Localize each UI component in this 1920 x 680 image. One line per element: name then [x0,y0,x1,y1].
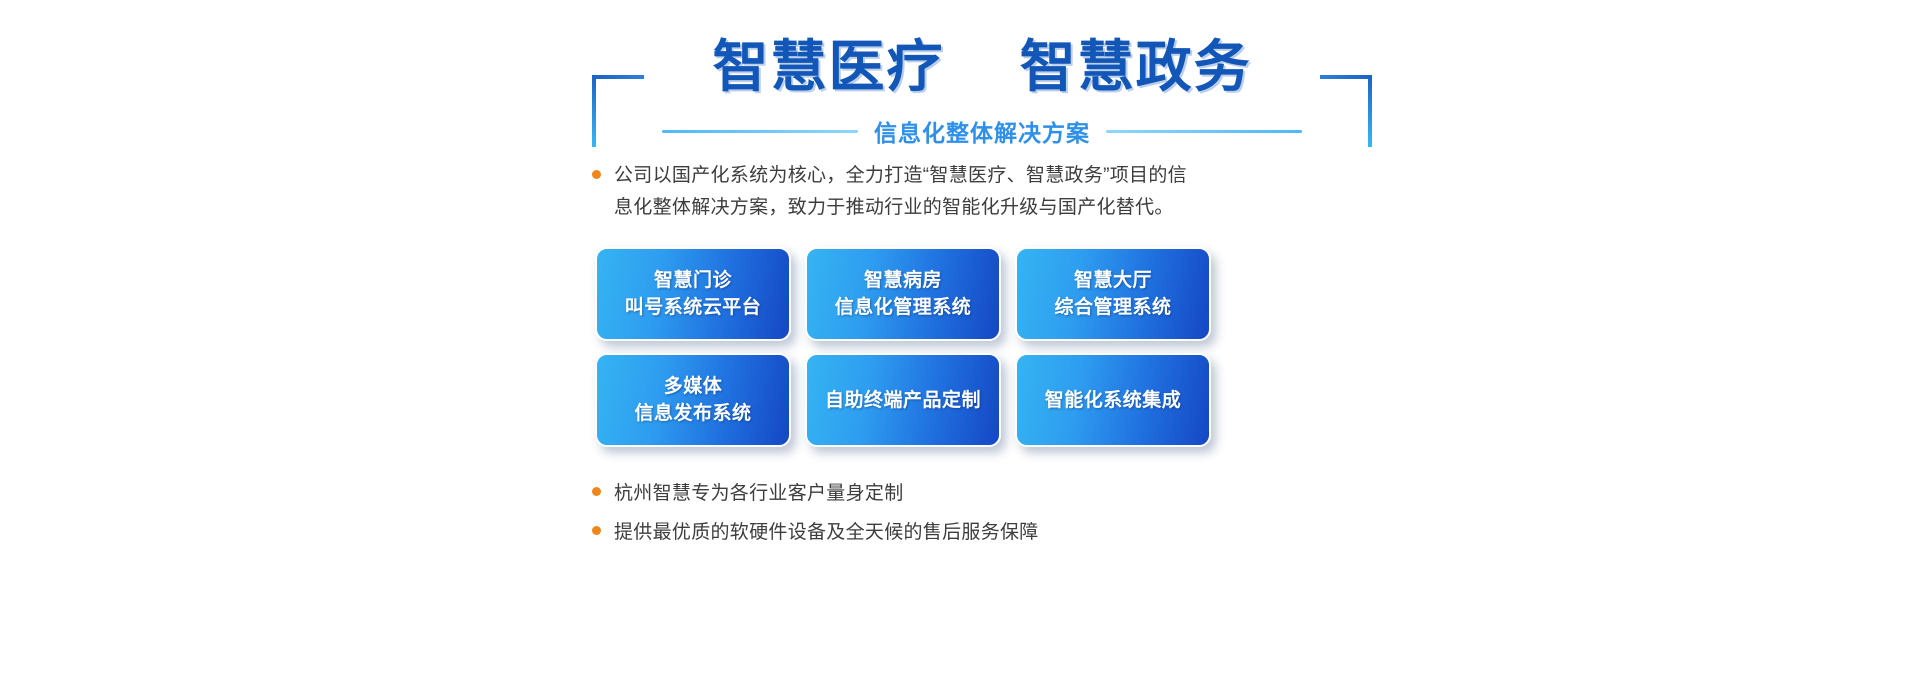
card-title-line-1: 多媒体 [634,373,751,400]
card-label: 智慧病房 信息化管理系统 [835,267,972,321]
card-label: 智慧大厅 综合管理系统 [1054,267,1171,321]
page-subtitle: 信息化整体解决方案 [874,114,1090,148]
card-smart-ward[interactable]: 智慧病房 信息化管理系统 [805,247,1001,341]
title-block: 智慧医疗 智慧政务 信息化整体解决方案 [592,28,1372,148]
card-label: 智慧门诊 叫号系统云平台 [625,267,762,321]
bullet-dot-icon [592,526,601,535]
card-multimedia[interactable]: 多媒体 信息发布系统 [595,353,791,447]
card-label: 多媒体 信息发布系统 [634,373,751,427]
intro-row: 公司以国产化系统为核心，全力打造“智慧医疗、智慧政务”项目的信 息化整体解决方案… [592,160,1312,224]
page-title: 智慧医疗 智慧政务 [592,28,1372,106]
card-label: 智能化系统集成 [1045,387,1182,414]
card-smart-hall[interactable]: 智慧大厅 综合管理系统 [1015,247,1211,341]
intro-line-2: 息化整体解决方案，致力于推动行业的智能化升级与国产化替代。 [614,192,1187,224]
solution-card-grid: 智慧门诊 叫号系统云平台 智慧病房 信息化管理系统 智慧大厅 综合管理系统 多媒… [595,247,1215,447]
highlight-text: 杭州智慧专为各行业客户量身定制 [614,478,904,505]
bullet-dot-icon [592,170,601,179]
card-label: 自助终端产品定制 [825,387,981,414]
card-title-line-2: 信息化管理系统 [835,294,972,321]
intro-line-1: 公司以国产化系统为核心，全力打造“智慧医疗、智慧政务”项目的信 [614,160,1187,192]
subtitle-rule-left [662,130,858,133]
card-title-line-1: 智能化系统集成 [1045,387,1182,414]
card-intelligent-integration[interactable]: 智能化系统集成 [1015,353,1211,447]
list-item: 提供最优质的软硬件设备及全天候的售后服务保障 [592,511,1292,550]
title-part-medical: 智慧医疗 [712,35,944,98]
card-self-service-terminal[interactable]: 自助终端产品定制 [805,353,1001,447]
intro-text: 公司以国产化系统为核心，全力打造“智慧医疗、智慧政务”项目的信 息化整体解决方案… [614,160,1187,224]
subtitle-row: 信息化整体解决方案 [592,114,1372,148]
card-smart-outpatient[interactable]: 智慧门诊 叫号系统云平台 [595,247,791,341]
card-title-line-1: 智慧大厅 [1054,267,1171,294]
highlight-list: 杭州智慧专为各行业客户量身定制 提供最优质的软硬件设备及全天候的售后服务保障 [592,472,1292,550]
card-title-line-1: 智慧病房 [835,267,972,294]
card-title-line-1: 智慧门诊 [625,267,762,294]
promo-banner: 智慧医疗 智慧政务 信息化整体解决方案 公司以国产化系统为核心，全力打造“智慧医… [0,0,1920,680]
subtitle-rule-right [1106,130,1302,133]
title-part-government: 智慧政务 [1020,35,1252,98]
intro-paragraph: 公司以国产化系统为核心，全力打造“智慧医疗、智慧政务”项目的信 息化整体解决方案… [592,160,1312,224]
bullet-dot-icon [592,487,601,496]
card-title-line-2: 综合管理系统 [1054,294,1171,321]
card-title-line-2: 叫号系统云平台 [625,294,762,321]
highlight-text: 提供最优质的软硬件设备及全天候的售后服务保障 [614,517,1039,544]
list-item: 杭州智慧专为各行业客户量身定制 [592,472,1292,511]
card-title-line-2: 信息发布系统 [634,400,751,427]
card-title-line-1: 自助终端产品定制 [825,387,981,414]
